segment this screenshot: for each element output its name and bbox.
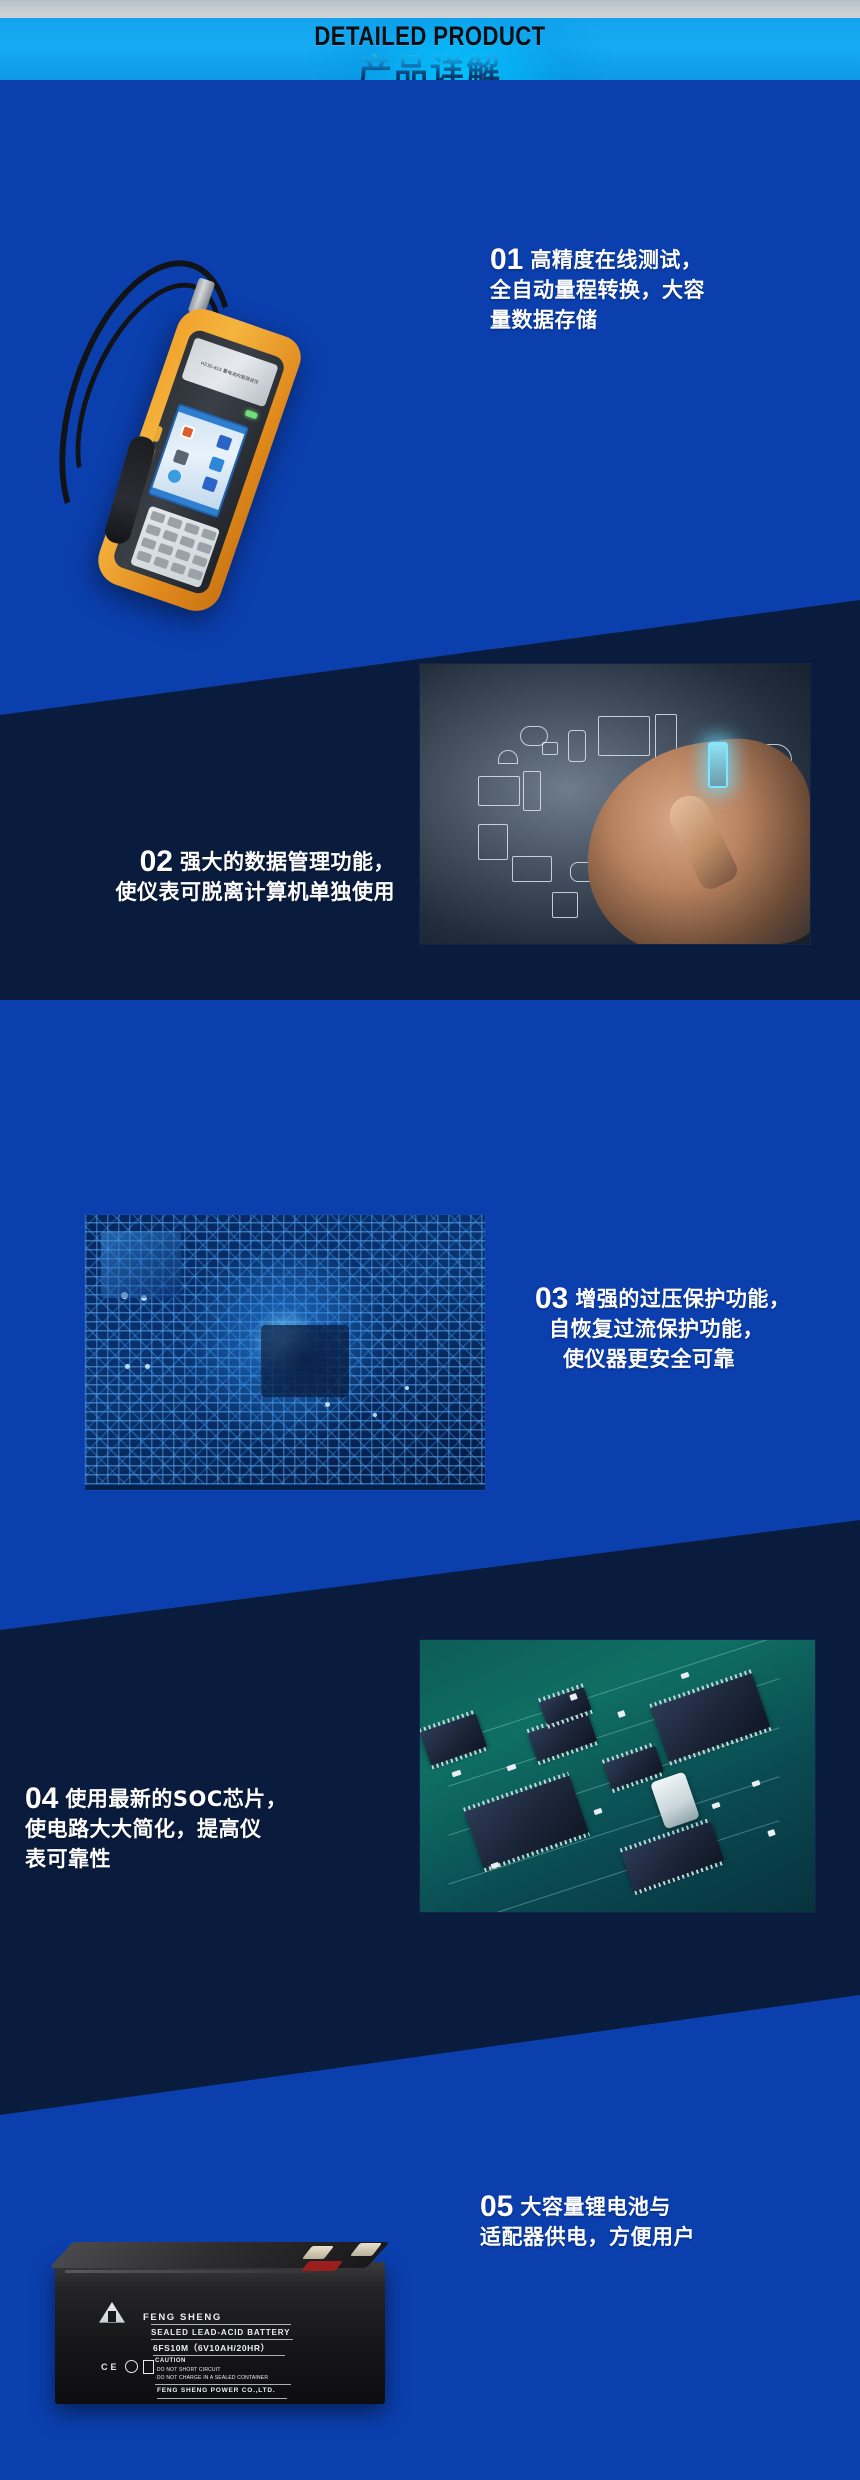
feature-line-text: 高精度在线测试， bbox=[530, 248, 702, 272]
feature-line: 04使用最新的SOC芯片， bbox=[25, 1782, 287, 1814]
product-image-blue-circuit bbox=[85, 1215, 485, 1490]
device-model-text: HZJD-815 蓄电池内阻测试仪 bbox=[186, 356, 273, 391]
product-image-lead-acid-battery: FENG SHENG SEALED LEAD-ACID BATTERY 6FS1… bbox=[55, 2240, 385, 2425]
pcb-solder-pad bbox=[405, 1386, 409, 1390]
keypad-key[interactable] bbox=[153, 556, 169, 569]
feature-line: 01高精度在线测试， bbox=[490, 243, 705, 275]
glowing-touch-target bbox=[708, 742, 728, 788]
device-status-led bbox=[245, 410, 258, 420]
icon-antenna bbox=[498, 750, 518, 764]
product-detail-page: DETAILED PRODUCT 产品详解 HZJD-815 蓄电池内阻测试仪 bbox=[0, 0, 860, 2480]
smd-resistor bbox=[593, 1807, 602, 1814]
feature-line: 02强大的数据管理功能， bbox=[0, 845, 395, 877]
pcb-solder-pad bbox=[125, 1364, 130, 1369]
feature-line: 全自动量程转换，大容 bbox=[490, 275, 705, 305]
icon-server-rack bbox=[478, 824, 508, 860]
feature-line-text: 使电路大大简化，提高仪 bbox=[25, 1817, 262, 1841]
feature-text-04: 04使用最新的SOC芯片， 使电路大大简化，提高仪 表可靠性 bbox=[25, 1782, 287, 1874]
feature-text-03: 03增强的过压保护功能， 自恢复过流保护功能， 使仪器更安全可靠 bbox=[535, 1282, 790, 1374]
feature-line-text: 大容量锂电池与 bbox=[520, 2195, 671, 2219]
keypad-key[interactable] bbox=[175, 549, 191, 562]
icon-laptop bbox=[512, 856, 552, 882]
chip-large-right bbox=[651, 1673, 770, 1762]
battery-label-rule bbox=[151, 2339, 293, 2340]
feature-text-05: 05大容量锂电池与 适配器供电，方便用户 bbox=[480, 2190, 695, 2252]
feature-line-text: 增强的过压保护功能， bbox=[575, 1287, 790, 1311]
feature-text-01: 01高精度在线测试， 全自动量程转换，大容 量数据存储 bbox=[490, 243, 705, 335]
smd-resistor bbox=[751, 1780, 760, 1787]
product-image-digital-network bbox=[420, 664, 810, 944]
battery-label-rule bbox=[157, 2398, 287, 2399]
feature-line: 表可靠性 bbox=[25, 1844, 287, 1874]
keypad-key[interactable] bbox=[170, 562, 186, 575]
feature-line-text: 强大的数据管理功能， bbox=[180, 850, 395, 874]
icon-monitor-left bbox=[478, 776, 520, 806]
pcb-corner-component bbox=[101, 1232, 181, 1298]
battery-label-rule bbox=[151, 2324, 291, 2325]
feature-line: 05大容量锂电池与 bbox=[480, 2190, 695, 2222]
feature-line: 使仪表可脱离计算机单独使用 bbox=[0, 877, 395, 907]
recycle-icon bbox=[125, 2360, 138, 2373]
feature-line: 使仪器更安全可靠 bbox=[535, 1344, 790, 1374]
battery-type-text: SEALED LEAD-ACID BATTERY bbox=[151, 2328, 290, 2337]
feature-line-text: 适配器供电，方便用户 bbox=[480, 2225, 695, 2249]
screen-icon-wrench bbox=[216, 434, 233, 451]
keypad-key[interactable] bbox=[141, 537, 157, 550]
feature-line-text: 全自动量程转换，大容 bbox=[490, 278, 705, 302]
feature-section-03: 03增强的过压保护功能， 自恢复过流保护功能， 使仪器更安全可靠 bbox=[0, 1140, 860, 1560]
keypad-key[interactable] bbox=[162, 530, 178, 543]
pcb-solder-pad bbox=[145, 1364, 150, 1369]
pcb-solder-pad bbox=[325, 1402, 330, 1407]
keypad-key[interactable] bbox=[150, 511, 166, 524]
pcb-central-chip bbox=[261, 1325, 349, 1397]
page-header-banner: DETAILED PRODUCT 产品详解 bbox=[0, 18, 860, 80]
keypad-key[interactable] bbox=[145, 524, 161, 537]
no-dispose-icon bbox=[143, 2360, 154, 2374]
smd-resistor bbox=[451, 1769, 461, 1777]
feature-number: 01 bbox=[490, 243, 523, 276]
smd-resistor bbox=[712, 1802, 721, 1809]
device-screen bbox=[148, 403, 249, 518]
feature-section-01: HZJD-815 蓄电池内阻测试仪 bbox=[0, 80, 860, 600]
feature-line-text: 量数据存储 bbox=[490, 308, 598, 332]
keypad-key[interactable] bbox=[201, 528, 217, 541]
icon-wifi-monitor bbox=[598, 716, 650, 756]
feature-line: 03增强的过压保护功能， bbox=[535, 1282, 790, 1314]
feature-number: 05 bbox=[480, 2190, 513, 2223]
icon-chat-bubble-small bbox=[542, 742, 558, 755]
crystal-oscillator bbox=[650, 1772, 700, 1830]
chip-bottom-center bbox=[621, 1822, 724, 1891]
keypad-key[interactable] bbox=[196, 541, 212, 554]
keypad-key[interactable] bbox=[167, 516, 183, 529]
keypad-key[interactable] bbox=[184, 522, 200, 535]
page-title-cn: 产品详解 bbox=[0, 44, 860, 80]
keypad-key[interactable] bbox=[158, 543, 174, 556]
product-image-green-circuit bbox=[420, 1640, 815, 1912]
feature-line: 使电路大大简化，提高仪 bbox=[25, 1814, 287, 1844]
feature-section-04: 04使用最新的SOC芯片， 使电路大大简化，提高仪 表可靠性 bbox=[0, 1520, 860, 1980]
battery-label-rule bbox=[155, 2384, 291, 2385]
smd-resistor bbox=[506, 1764, 516, 1772]
battery-company-text: FENG SHENG POWER CO.,LTD. bbox=[157, 2387, 275, 2394]
screen-icon-data bbox=[208, 456, 225, 473]
smd-capacitor bbox=[767, 1829, 776, 1837]
feature-line: 量数据存储 bbox=[490, 305, 705, 335]
battery-model-text: 6FS10M（6V10AH/20HR） bbox=[153, 2342, 270, 2354]
screen-icon-file bbox=[173, 449, 190, 466]
logo-inner-mark bbox=[108, 2311, 116, 2322]
feature-line-text: 使用最新的SOC芯片， bbox=[65, 1787, 287, 1811]
feature-line-text: 自恢复过流保护功能， bbox=[549, 1317, 764, 1341]
keypad-key[interactable] bbox=[179, 536, 195, 549]
feature-line-text: 使仪表可脱离计算机单独使用 bbox=[116, 880, 396, 904]
battery-brand-text: FENG SHENG bbox=[143, 2312, 222, 2323]
battery-caution-line-1: ·DO NOT SHORT CIRCUIT bbox=[155, 2367, 221, 2373]
battery-label-rule bbox=[153, 2355, 285, 2356]
feature-number: 03 bbox=[535, 1282, 568, 1315]
smd-resistor bbox=[680, 1671, 689, 1678]
keypad-key[interactable] bbox=[192, 555, 208, 568]
icon-phone-left bbox=[568, 730, 586, 762]
keypad-key[interactable] bbox=[187, 568, 203, 581]
smd-capacitor bbox=[617, 1710, 626, 1718]
icon-tower-left bbox=[523, 771, 541, 811]
feature-number: 04 bbox=[25, 1782, 58, 1815]
feature-line-text: 表可靠性 bbox=[25, 1847, 111, 1871]
keypad-key[interactable] bbox=[136, 550, 152, 563]
chip-small-top-left bbox=[420, 1713, 487, 1766]
feature-line: 适配器供电，方便用户 bbox=[480, 2222, 695, 2252]
pcb-solder-pad bbox=[373, 1413, 377, 1417]
feature-section-02: 02强大的数据管理功能， 使仪表可脱离计算机单独使用 bbox=[0, 600, 860, 1020]
screen-icon-measure bbox=[179, 424, 196, 441]
battery-seam-line bbox=[65, 2270, 322, 2273]
top-strip bbox=[0, 0, 860, 18]
feature-line: 自恢复过流保护功能， bbox=[535, 1314, 790, 1344]
feature-section-05: FENG SHENG SEALED LEAD-ACID BATTERY 6FS1… bbox=[0, 2120, 860, 2480]
feature-text-02: 02强大的数据管理功能， 使仪表可脱离计算机单独使用 bbox=[0, 845, 395, 907]
feature-line-text: 使仪器更安全可靠 bbox=[563, 1347, 735, 1371]
battery-caution-title: CAUTION bbox=[155, 2358, 186, 2364]
screen-icon-settings bbox=[202, 476, 219, 493]
chip-large-bottom-left bbox=[465, 1776, 589, 1869]
icon-database bbox=[552, 892, 578, 918]
feature-number: 02 bbox=[140, 845, 173, 878]
screen-icon-power bbox=[166, 468, 183, 485]
ce-mark-icon: CE bbox=[101, 2362, 120, 2372]
battery-caution-line-2: ·DO NOT CHARGE IN A SEALED CONTAINER bbox=[155, 2375, 268, 2381]
